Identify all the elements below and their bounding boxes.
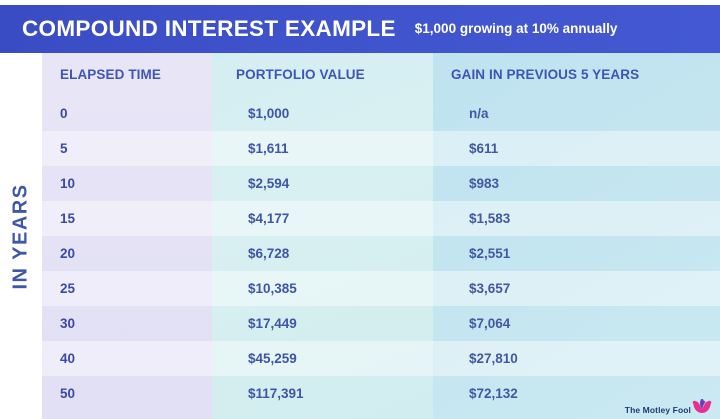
table-row: $117,391 bbox=[212, 376, 433, 411]
cell-elapsed-time: 40 bbox=[42, 352, 75, 366]
cell-gain-previous-5-years: n/a bbox=[433, 107, 489, 121]
cell-portfolio-value: $45,259 bbox=[212, 352, 297, 366]
cell-portfolio-value: $4,177 bbox=[212, 212, 289, 226]
column-header-label: ELAPSED TIME bbox=[42, 68, 161, 82]
table-row: $2,594 bbox=[212, 166, 433, 201]
table-row: $27,810 bbox=[433, 341, 720, 376]
cell-portfolio-value: $2,594 bbox=[212, 177, 289, 191]
table-row: 25 bbox=[42, 271, 212, 306]
table-row: $10,385 bbox=[212, 271, 433, 306]
cell-portfolio-value: $117,391 bbox=[212, 387, 304, 401]
cell-elapsed-time: 20 bbox=[42, 247, 75, 261]
table-row: 5 bbox=[42, 131, 212, 166]
cell-portfolio-value: $17,449 bbox=[212, 317, 297, 331]
header-band: COMPOUND INTEREST EXAMPLE $1,000 growing… bbox=[0, 5, 720, 53]
page-title: COMPOUND INTEREST EXAMPLE bbox=[22, 18, 396, 41]
table-row: 40 bbox=[42, 341, 212, 376]
cell-gain-previous-5-years: $2,551 bbox=[433, 247, 510, 261]
column-header-cell: PORTFOLIO VALUE bbox=[212, 53, 433, 96]
cell-gain-previous-5-years: $27,810 bbox=[433, 352, 518, 366]
column-gain-previous-5-years: GAIN IN PREVIOUS 5 YEARS n/a $611 $983 $… bbox=[433, 53, 720, 419]
table-row: $1,000 bbox=[212, 96, 433, 131]
cell-portfolio-value: $1,000 bbox=[212, 107, 289, 121]
column-header-label: GAIN IN PREVIOUS 5 YEARS bbox=[433, 68, 639, 82]
cell-elapsed-time: 25 bbox=[42, 282, 75, 296]
table-row: $3,657 bbox=[433, 271, 720, 306]
cell-gain-previous-5-years: $611 bbox=[433, 142, 498, 156]
table-row: $1,611 bbox=[212, 131, 433, 166]
cell-gain-previous-5-years: $72,132 bbox=[433, 387, 518, 401]
table-row: $17,449 bbox=[212, 306, 433, 341]
cell-portfolio-value: $1,611 bbox=[212, 142, 289, 156]
cell-portfolio-value: $6,728 bbox=[212, 247, 289, 261]
brand-logo-text: The Motley Fool bbox=[625, 406, 691, 416]
axis-label-container: IN YEARS bbox=[0, 53, 42, 419]
cell-gain-previous-5-years: $3,657 bbox=[433, 282, 510, 296]
cell-elapsed-time: 15 bbox=[42, 212, 75, 226]
jester-hat-icon bbox=[692, 398, 712, 414]
cell-gain-previous-5-years: $1,583 bbox=[433, 212, 510, 226]
column-header-cell: ELAPSED TIME bbox=[42, 53, 212, 96]
table-row: $45,259 bbox=[212, 341, 433, 376]
column-header-cell: GAIN IN PREVIOUS 5 YEARS bbox=[433, 53, 720, 96]
table-row: $1,583 bbox=[433, 201, 720, 236]
cell-gain-previous-5-years: $7,064 bbox=[433, 317, 510, 331]
column-elapsed-time: ELAPSED TIME 0 5 10 15 20 25 bbox=[42, 53, 212, 419]
column-header-label: PORTFOLIO VALUE bbox=[212, 68, 365, 82]
table-row: 15 bbox=[42, 201, 212, 236]
table-row: 50 bbox=[42, 376, 212, 411]
data-table: ELAPSED TIME 0 5 10 15 20 25 bbox=[42, 53, 720, 419]
table-row: $4,177 bbox=[212, 201, 433, 236]
cell-elapsed-time: 5 bbox=[42, 142, 68, 156]
column-portfolio-value: PORTFOLIO VALUE $1,000 $1,611 $2,594 $4,… bbox=[212, 53, 433, 419]
cell-elapsed-time: 30 bbox=[42, 317, 75, 331]
table-row: 30 bbox=[42, 306, 212, 341]
table-row: $7,064 bbox=[433, 306, 720, 341]
cell-gain-previous-5-years: $983 bbox=[433, 177, 499, 191]
table-row: n/a bbox=[433, 96, 720, 131]
table-row: $611 bbox=[433, 131, 720, 166]
cell-elapsed-time: 10 bbox=[42, 177, 75, 191]
brand-logo: The Motley Fool bbox=[625, 398, 712, 415]
table-row: $983 bbox=[433, 166, 720, 201]
table-row: $2,551 bbox=[433, 236, 720, 271]
table-row: $6,728 bbox=[212, 236, 433, 271]
table-row: 0 bbox=[42, 96, 212, 131]
table-row: 10 bbox=[42, 166, 212, 201]
axis-label-in-years: IN YEARS bbox=[10, 183, 33, 289]
cell-portfolio-value: $10,385 bbox=[212, 282, 297, 296]
table-row: 20 bbox=[42, 236, 212, 271]
page-subtitle: $1,000 growing at 10% annually bbox=[415, 22, 618, 36]
cell-elapsed-time: 50 bbox=[42, 387, 75, 401]
infographic-container: COMPOUND INTEREST EXAMPLE $1,000 growing… bbox=[0, 0, 720, 419]
cell-elapsed-time: 0 bbox=[42, 107, 68, 121]
